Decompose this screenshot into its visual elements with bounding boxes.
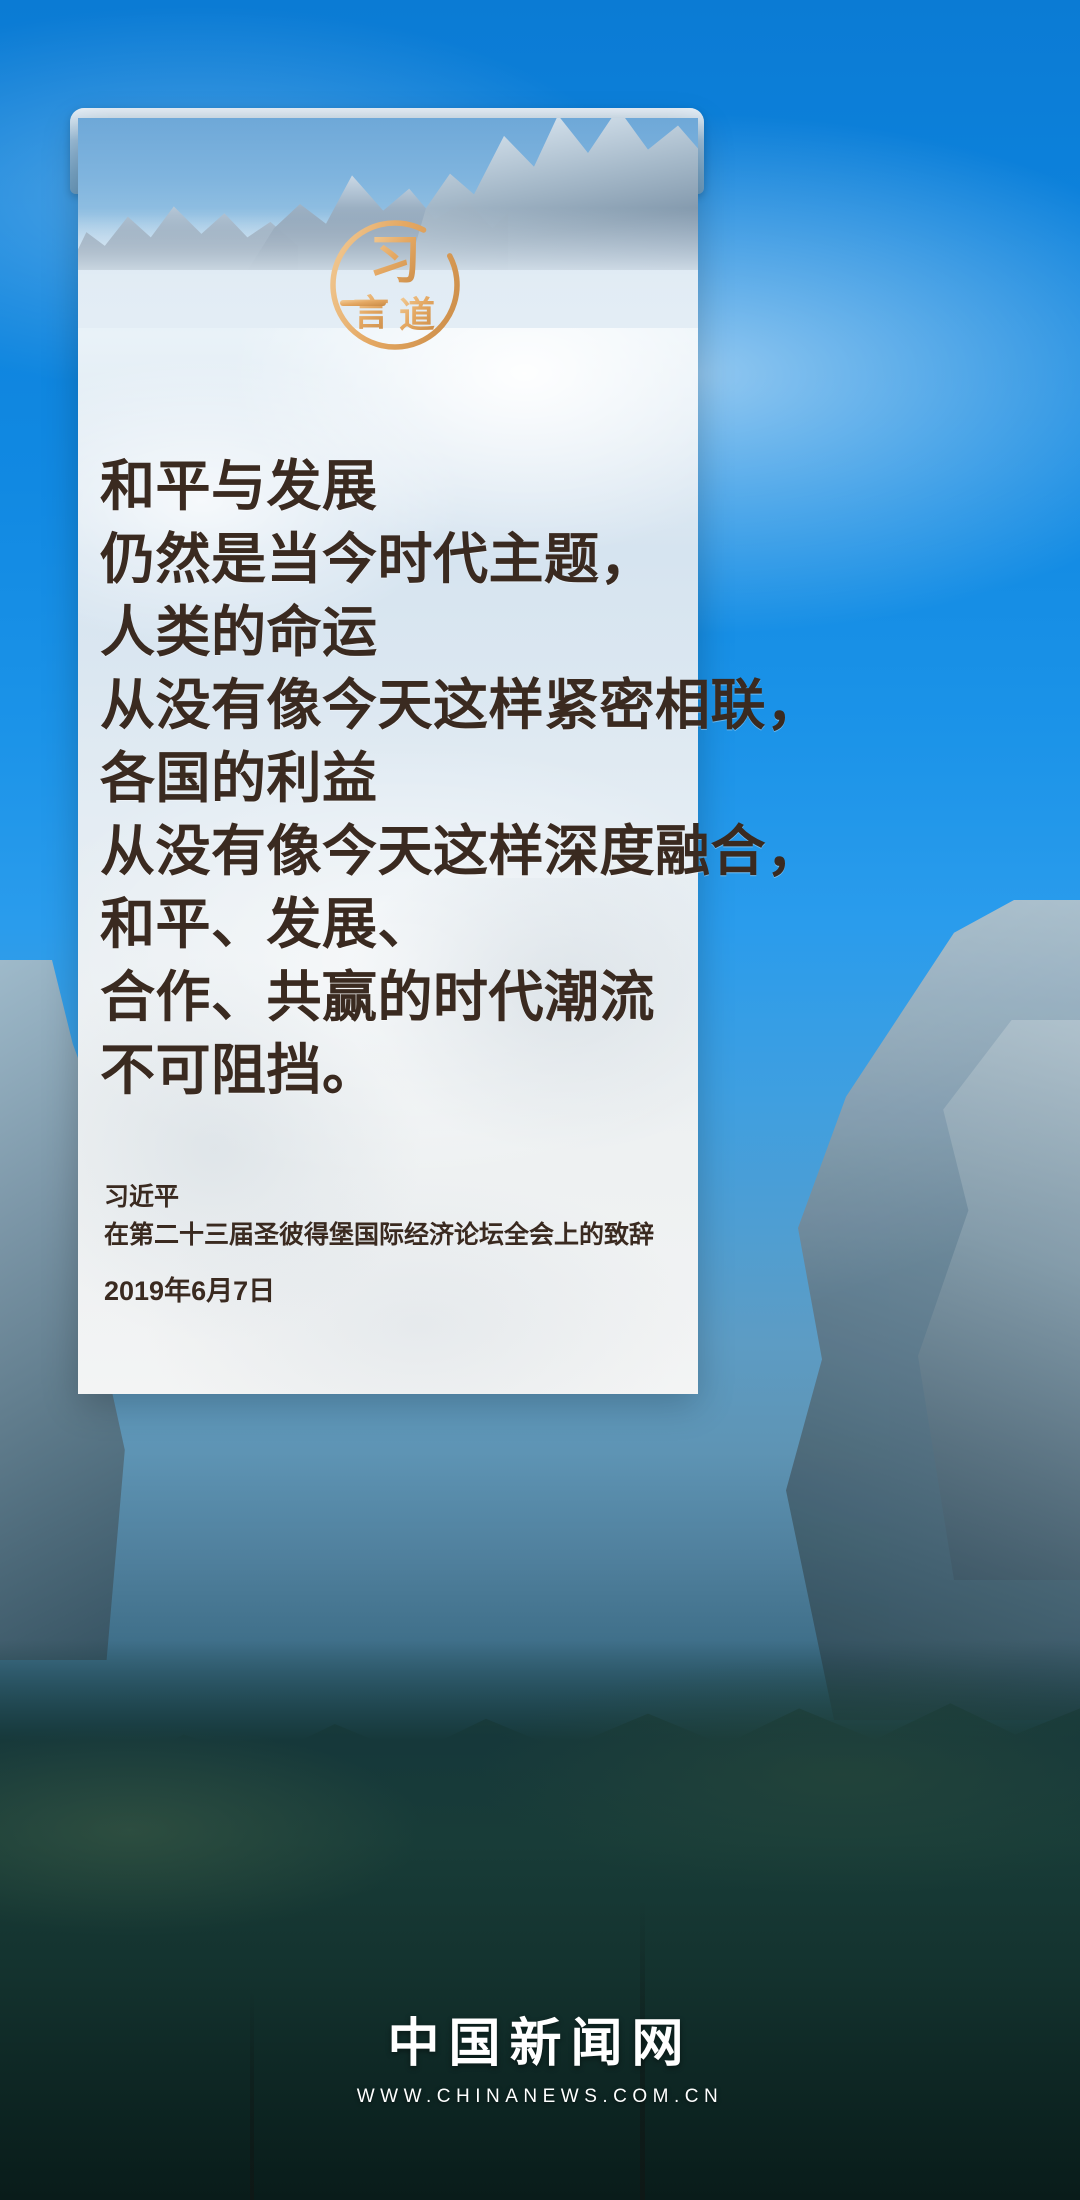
seal-stroke-dash — [340, 300, 386, 306]
quote-line: 和平与发展 — [100, 450, 700, 523]
brand-name: 中国新闻网 — [0, 2014, 1080, 2074]
quote-line: 各国的利益 — [100, 742, 700, 815]
attribution-occasion: 在第二十三届圣彼得堡国际经济论坛全会上的致辞 — [104, 1216, 654, 1254]
seal-char-xi: 习 — [369, 230, 421, 291]
attribution: 习近平 在第二十三届圣彼得堡国际经济论坛全会上的致辞 2019年6月7日 — [104, 1178, 654, 1310]
quote-line: 合作、共赢的时代潮流 — [100, 961, 700, 1034]
poster-quote-card: 习 言 道 和平与发展 仍然是当今时代主题， 人类的命运 从没有像今天这样紧密相… — [0, 0, 1080, 2200]
quote-line: 从没有像今天这样深度融合， — [100, 815, 700, 888]
attribution-date: 2019年6月7日 — [104, 1272, 654, 1310]
attribution-speaker: 习近平 — [104, 1178, 654, 1216]
seal-char-dao: 道 — [399, 294, 435, 336]
brand-url: WWW.CHINANEWS.COM.CN — [0, 2086, 1080, 2108]
quote-line: 仍然是当今时代主题， — [100, 523, 700, 596]
quote-line: 和平、发展、 — [100, 888, 700, 961]
xi-yan-dao-seal-icon: 习 言 道 — [322, 212, 468, 358]
seal-char-yan: 言 — [353, 292, 389, 334]
quote-line: 人类的命运 — [100, 596, 700, 669]
background-forest — [0, 1640, 1080, 2200]
brand-block: 中国新闻网 WWW.CHINANEWS.COM.CN — [0, 2014, 1080, 2108]
quote-line: 从没有像今天这样紧密相联， — [100, 669, 700, 742]
quote-line: 不可阻挡。 — [100, 1034, 700, 1107]
quote-text: 和平与发展 仍然是当今时代主题， 人类的命运 从没有像今天这样紧密相联， 各国的… — [100, 450, 700, 1107]
